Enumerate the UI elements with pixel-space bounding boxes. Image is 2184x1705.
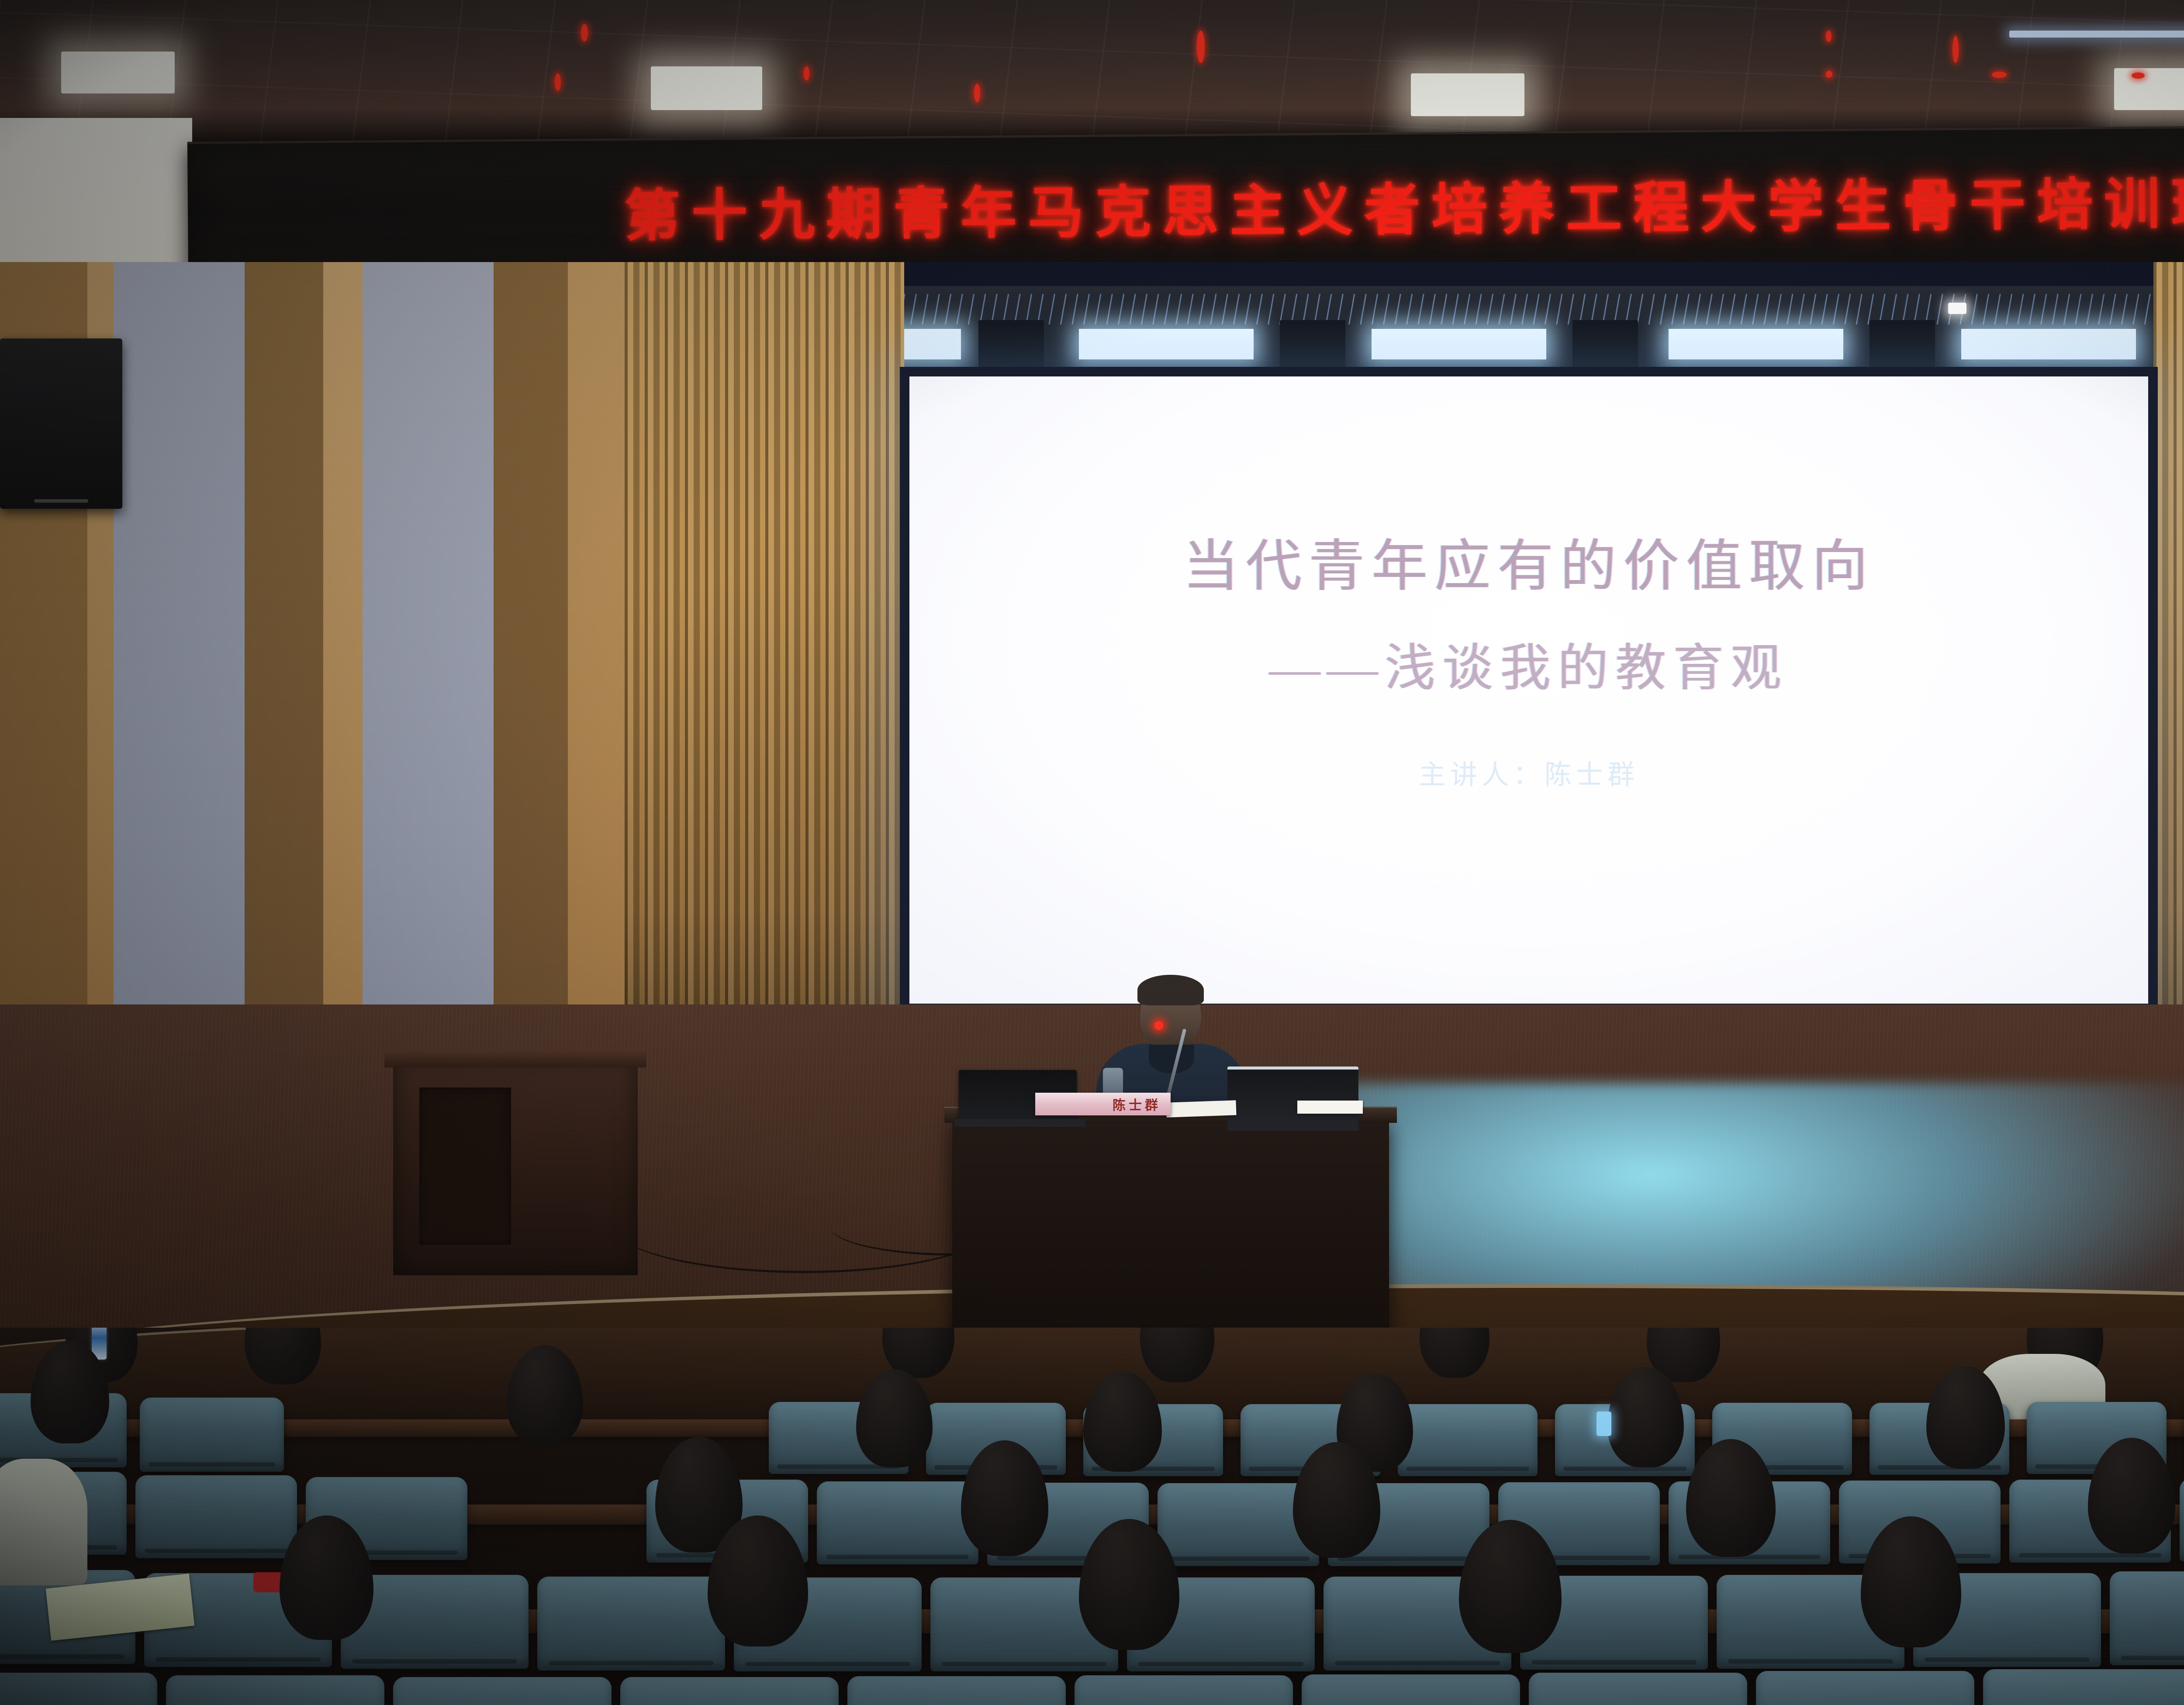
upper-wall-left (0, 118, 192, 284)
truss-housing (1572, 320, 1638, 368)
ceiling (0, 0, 2184, 144)
stage-curtain-left (625, 262, 904, 1092)
presenter-collar (1149, 1045, 1194, 1073)
ceiling-light-panel (1411, 73, 1524, 116)
slide-title: 当代青年应有的价值取向 (1183, 521, 1875, 601)
led-reflection-dot (1952, 36, 1959, 63)
audience-seat (2110, 1571, 2184, 1665)
slide-subtitle: ——浅谈我的教育观 (1269, 627, 1788, 700)
audience-seat (0, 1673, 157, 1705)
audience-seat (1302, 1674, 1520, 1705)
led-reflection-dot (555, 73, 561, 91)
audience-seat (393, 1677, 612, 1705)
projection-screen: 当代青年应有的价值取向 ——浅谈我的教育观 主讲人：陈士群 (909, 376, 2148, 1004)
audience-seat (1756, 1671, 1974, 1705)
led-reflection-dot (1992, 72, 2007, 78)
led-reflection-dot (804, 66, 809, 80)
truss-housing (978, 320, 1044, 368)
stage-light (1372, 329, 1546, 359)
lectern-panel (419, 1087, 511, 1245)
lectern (393, 1057, 638, 1275)
stage-light (1079, 329, 1254, 359)
ceiling-light-panel (2114, 68, 2184, 110)
led-reflection-dot (581, 24, 588, 41)
audience-seat (1983, 1669, 2184, 1705)
audience-seat (2180, 1478, 2184, 1561)
slide-presenter: 主讲人：陈士群 (1419, 752, 1639, 792)
curtain-fabric (625, 262, 904, 1092)
ceiling-tile-grid (0, 0, 2184, 144)
laptop-base (954, 1119, 1085, 1127)
truss-housing (1870, 320, 1935, 368)
led-reflection-dot (1826, 71, 1832, 78)
audience-seat (847, 1676, 1066, 1705)
truss-housing (1280, 320, 1345, 368)
stage-light (1961, 329, 2136, 359)
nameplate-text: 陈士群 (1113, 1094, 1161, 1114)
ceiling-light-panel (651, 66, 762, 110)
led-reflection-dot (2132, 72, 2145, 79)
audience-seat (166, 1675, 384, 1705)
audience-seat (620, 1677, 839, 1705)
truss-grill (743, 294, 2184, 324)
phone-screen (1597, 1412, 1611, 1436)
desk-document (1166, 1100, 1236, 1118)
audience-seat (817, 1481, 978, 1564)
lectern-top (384, 1050, 646, 1067)
audience-seat (1075, 1675, 1293, 1705)
audience-seat (135, 1475, 297, 1558)
led-reflection-dot (1826, 31, 1832, 42)
nameplate: 陈士群 (1035, 1093, 1171, 1115)
led-reflection-dot (1197, 31, 1205, 63)
truss-spotlight (1948, 303, 1966, 314)
projection-screen-frame: 当代青年应有的价值取向 ——浅谈我的教育观 主讲人：陈士群 (900, 367, 2158, 1013)
audience-seat (1529, 1673, 1747, 1705)
ceiling-blue-reflection (2009, 31, 2184, 38)
monitor (1227, 1066, 1358, 1131)
auditorium-scene: 第十九期青年马克思主义者培养工程大学生骨干培训班专题报告 (0, 0, 2184, 1705)
audience-seat (140, 1398, 284, 1472)
led-banner-text: 第十九期青年马克思主义者培养工程大学生骨干培训班专题报告 (624, 156, 2184, 252)
audience-seat (1398, 1404, 1538, 1476)
presenter-hair (1137, 975, 1204, 1005)
stage-curtain-right (2153, 262, 2184, 1092)
ceiling-light-panel (61, 52, 175, 93)
audience-seat (537, 1577, 725, 1670)
led-reflection-dot (974, 84, 980, 102)
desk-document (1297, 1101, 1363, 1114)
curtain-fabric (2153, 262, 2184, 1092)
microphone-led-icon (1154, 1021, 1163, 1030)
audience-shoulder (0, 1459, 87, 1585)
audience-area (0, 1328, 2184, 1705)
stage-light (1669, 329, 1843, 359)
wall-speaker-left (0, 338, 122, 509)
